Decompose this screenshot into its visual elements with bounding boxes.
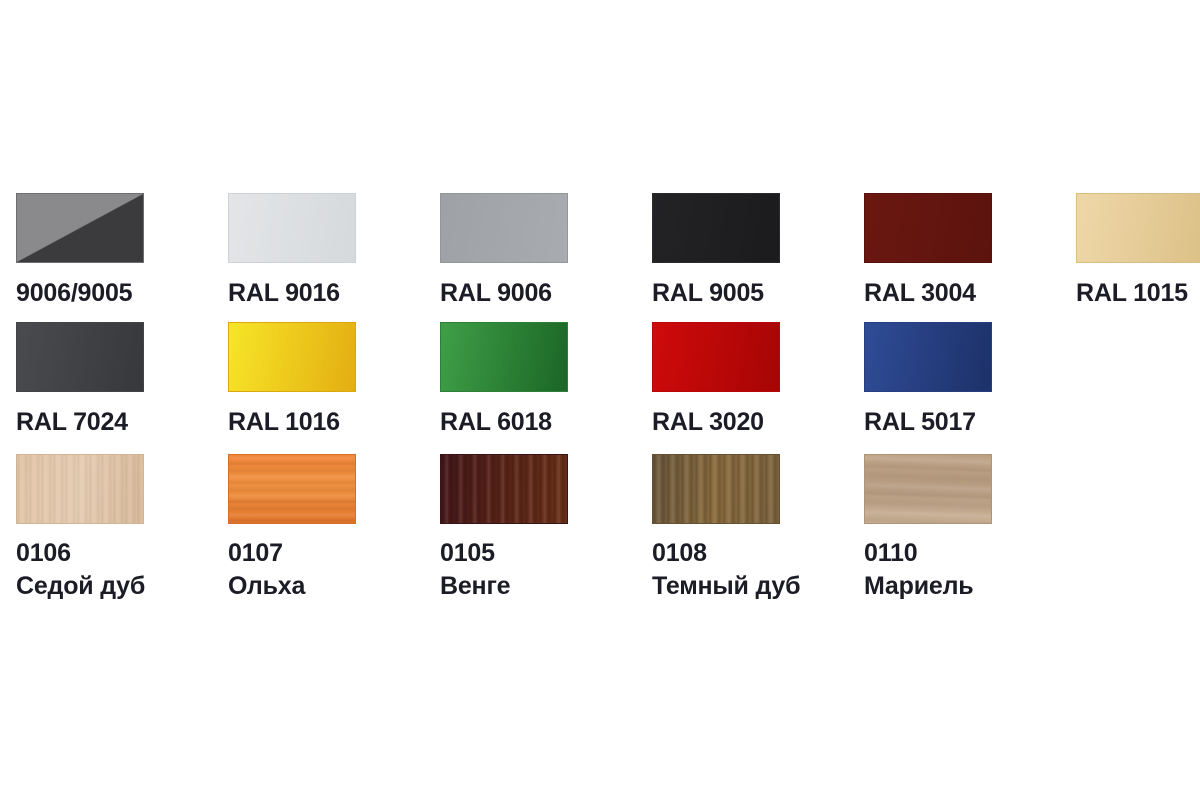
swatch-label: 0107Ольха [228,537,440,603]
swatch-label: 0105Венге [440,537,652,603]
swatch-fill [653,323,779,391]
swatch-fill [441,455,567,523]
swatch-fill [17,194,143,262]
swatch-label: 0110Мариель [864,537,1076,603]
swatch-code: RAL 7024 [16,406,228,439]
swatch-code: RAL 3020 [652,406,864,439]
swatch-cell[interactable]: 0110Мариель [864,454,1076,603]
swatch-name: Седой дуб [16,570,228,603]
swatch-fill [17,455,143,523]
swatch-label: 9006/9005 [16,277,228,310]
swatch-code: RAL 3004 [864,277,1076,310]
color-palette: 9006/9005RAL 9016RAL 9006RAL 9005RAL 300… [0,0,1200,800]
swatch-code: RAL 1016 [228,406,440,439]
swatch-fill [865,194,991,262]
swatch-cell[interactable]: RAL 6018 [440,322,652,439]
swatch-label: RAL 9016 [228,277,440,310]
wood-grain-texture [865,455,991,523]
swatch-fill [653,455,779,523]
swatch-label: RAL 9006 [440,277,652,310]
swatch-fill [229,194,355,262]
wood-grain-texture [229,455,355,523]
swatch-name: Темный дуб [652,570,864,603]
swatch-chip-icon[interactable] [1076,193,1200,263]
swatch-chip-icon[interactable] [864,322,992,392]
swatch-fill [865,323,991,391]
swatch-fill [17,323,143,391]
swatch-code: 0108 [652,537,864,570]
wood-grain-texture [441,455,567,523]
swatch-code: RAL 1015 [1076,277,1200,310]
swatch-label: RAL 1016 [228,406,440,439]
swatch-code: 0106 [16,537,228,570]
wood-grain-texture [17,455,143,523]
swatch-label: RAL 7024 [16,406,228,439]
swatch-fill [441,194,567,262]
swatch-chip-icon[interactable] [440,193,568,263]
swatch-label: 0108Темный дуб [652,537,864,603]
wood-swatch-icon[interactable] [440,454,568,524]
swatch-label: RAL 3020 [652,406,864,439]
swatch-cell[interactable]: RAL 5017 [864,322,1076,439]
swatch-chip-icon[interactable] [16,193,144,263]
wood-swatch-icon[interactable] [864,454,992,524]
swatch-cell[interactable]: RAL 1015 [1076,193,1200,310]
wood-swatch-icon[interactable] [652,454,780,524]
swatch-name: Мариель [864,570,1076,603]
swatch-fill [441,323,567,391]
swatch-code: RAL 9016 [228,277,440,310]
swatch-cell[interactable]: RAL 3004 [864,193,1076,310]
swatch-chip-icon[interactable] [652,322,780,392]
swatch-name: Венге [440,570,652,603]
swatch-row-ral-1: 9006/9005RAL 9016RAL 9006RAL 9005RAL 300… [16,193,1200,310]
swatch-code: RAL 6018 [440,406,652,439]
swatch-chip-icon[interactable] [652,193,780,263]
swatch-fill [653,194,779,262]
swatch-label: RAL 5017 [864,406,1076,439]
swatch-cell[interactable]: 0107Ольха [228,454,440,603]
swatch-cell[interactable]: RAL 9005 [652,193,864,310]
swatch-code: 9006/9005 [16,277,228,310]
swatch-code: RAL 9006 [440,277,652,310]
swatch-cell[interactable]: 9006/9005 [16,193,228,310]
swatch-label: RAL 6018 [440,406,652,439]
swatch-chip-icon[interactable] [440,322,568,392]
swatch-name: Ольха [228,570,440,603]
swatch-cell[interactable]: RAL 3020 [652,322,864,439]
swatch-row-ral-2: RAL 7024RAL 1016RAL 6018RAL 3020RAL 5017 [16,322,1200,439]
swatch-cell[interactable]: RAL 1016 [228,322,440,439]
swatch-label: RAL 9005 [652,277,864,310]
swatch-fill [865,455,991,523]
swatch-cell[interactable]: RAL 9006 [440,193,652,310]
swatch-cell[interactable]: 0106Седой дуб [16,454,228,603]
swatch-label: RAL 3004 [864,277,1076,310]
swatch-label: RAL 1015 [1076,277,1200,310]
swatch-fill [229,323,355,391]
swatch-cell[interactable]: RAL 7024 [16,322,228,439]
wood-swatch-icon[interactable] [228,454,356,524]
swatch-code: RAL 9005 [652,277,864,310]
swatch-fill [229,455,355,523]
swatch-chip-icon[interactable] [16,322,144,392]
swatch-code: 0107 [228,537,440,570]
wood-swatch-icon[interactable] [16,454,144,524]
swatch-fill [1077,194,1200,262]
swatch-code: RAL 5017 [864,406,1076,439]
swatch-code: 0110 [864,537,1076,570]
swatch-chip-icon[interactable] [864,193,992,263]
swatch-label: 0106Седой дуб [16,537,228,603]
swatch-cell[interactable]: 0108Темный дуб [652,454,864,603]
swatch-chip-icon[interactable] [228,322,356,392]
swatch-cell[interactable]: RAL 9016 [228,193,440,310]
wood-grain-texture [653,455,779,523]
swatch-cell[interactable]: 0105Венге [440,454,652,603]
swatch-row-wood: 0106Седой дуб0107Ольха0105Венге0108Темны… [16,454,1200,603]
swatch-chip-icon[interactable] [228,193,356,263]
swatch-code: 0105 [440,537,652,570]
